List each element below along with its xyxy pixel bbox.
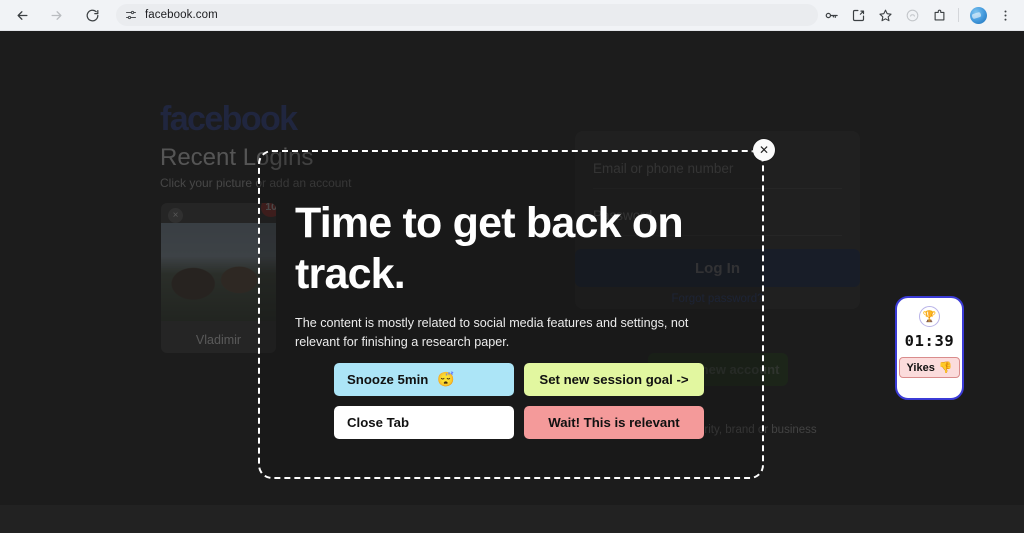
address-bar-url: facebook.com bbox=[145, 9, 218, 21]
wait-relevant-label: Wait! This is relevant bbox=[548, 415, 679, 430]
back-arrow-icon[interactable] bbox=[8, 1, 36, 29]
close-tab-button[interactable]: Close Tab bbox=[334, 406, 514, 439]
avatar[interactable] bbox=[965, 2, 991, 28]
extensions-icon[interactable] bbox=[926, 2, 952, 28]
page-viewport: facebook Recent Logins Click your pictur… bbox=[0, 31, 1024, 533]
wait-relevant-button[interactable]: Wait! This is relevant bbox=[524, 406, 704, 439]
close-icon[interactable]: ✕ bbox=[753, 139, 775, 161]
snooze-button-label: Snooze 5min bbox=[347, 372, 428, 387]
browser-toolbar: facebook.com bbox=[0, 0, 1024, 31]
page-title: Time to get back on track. bbox=[295, 198, 725, 300]
modal-action-buttons: Snooze 5min 😴 Set new session goal -> Cl… bbox=[334, 363, 704, 439]
password-key-icon[interactable] bbox=[818, 2, 844, 28]
set-session-goal-button[interactable]: Set new session goal -> bbox=[524, 363, 704, 396]
address-bar[interactable]: facebook.com bbox=[116, 4, 818, 26]
bookmark-star-icon[interactable] bbox=[872, 2, 898, 28]
focus-reminder-modal: ✕ Time to get back on track. The content… bbox=[258, 150, 764, 479]
facebook-logo: facebook bbox=[160, 100, 296, 139]
close-tab-label: Close Tab bbox=[347, 415, 409, 430]
toolbar-divider bbox=[958, 8, 959, 22]
modal-body-text: The content is mostly related to social … bbox=[295, 314, 727, 352]
tune-sliders-icon bbox=[125, 9, 137, 21]
trophy-icon: 🏆 bbox=[919, 306, 940, 327]
timer-value: 01:39 bbox=[905, 332, 955, 350]
focus-timer-widget[interactable]: 🏆 01:39 Yikes 👎 bbox=[895, 296, 964, 400]
yikes-label: Yikes bbox=[906, 362, 934, 374]
three-dot-menu-icon[interactable] bbox=[992, 2, 1018, 28]
yikes-button[interactable]: Yikes 👎 bbox=[899, 357, 959, 378]
set-session-goal-label: Set new session goal -> bbox=[539, 372, 688, 387]
thumbs-down-icon: 👎 bbox=[939, 361, 953, 374]
snooze-button[interactable]: Snooze 5min 😴 bbox=[334, 363, 514, 396]
sleepy-face-icon: 😴 bbox=[437, 371, 454, 388]
install-app-icon[interactable] bbox=[845, 2, 871, 28]
toolbar-actions bbox=[818, 2, 1018, 28]
remove-profile-icon[interactable]: × bbox=[168, 208, 183, 223]
extension-disabled-icon[interactable] bbox=[899, 2, 925, 28]
forward-arrow-icon[interactable] bbox=[42, 1, 70, 29]
reload-icon[interactable] bbox=[78, 1, 106, 29]
